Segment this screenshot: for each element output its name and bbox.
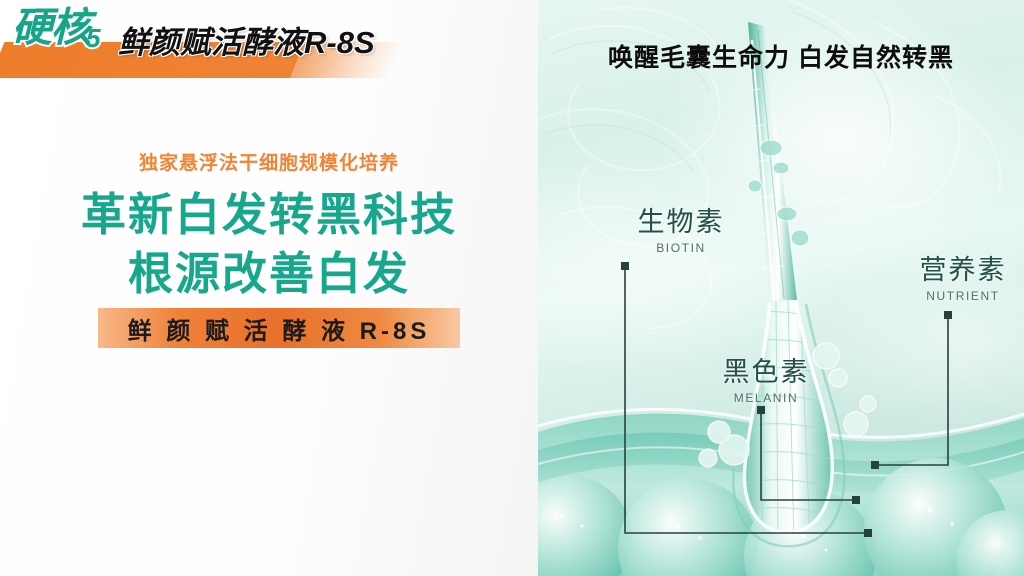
callout-nutrient-cn: 营养素 xyxy=(893,256,1024,286)
headline-line-2: 根源改善白发 xyxy=(0,244,538,303)
product-name-text: 鲜 颜 赋 活 酵 液 R-8S xyxy=(128,311,431,346)
callout-nutrient-en: NUTRIENT xyxy=(893,289,1024,303)
callout-melanin-cn: 黑色素 xyxy=(696,358,836,388)
left-subtitle: 独家悬浮法干细胞规模化培养 xyxy=(0,148,538,175)
callout-biotin-en: BIOTIN xyxy=(611,241,751,255)
callout-melanin-en: MELANIN xyxy=(696,391,836,405)
headline-line-1: 革新白发转黑科技 xyxy=(81,189,457,240)
brand-logo: 硬核5 xyxy=(12,8,99,51)
left-headline: 革新白发转黑科技 根源改善白发 xyxy=(0,185,538,304)
callout-nutrient: 营养素 NUTRIENT xyxy=(893,256,1024,303)
left-panel: 硬核5 硬核5 鲜颜赋活酵液R-8S 独家悬浮法干细胞规模化培养 革新白发转黑科… xyxy=(0,0,538,576)
callout-biotin-cn: 生物素 xyxy=(611,208,751,238)
callout-melanin: 黑色素 MELANIN xyxy=(696,358,836,405)
product-name-bar: 鲜 颜 赋 活 酵 液 R-8S xyxy=(98,308,460,348)
right-panel-title: 唤醒毛囊生命力 白发自然转黑 xyxy=(538,38,1024,74)
ad-poster: 硬核5 硬核5 鲜颜赋活酵液R-8S 独家悬浮法干细胞规模化培养 革新白发转黑科… xyxy=(0,0,1024,576)
banner-product-title: 鲜颜赋活酵液R-8S xyxy=(118,24,375,61)
right-panel: 唤醒毛囊生命力 白发自然转黑 生物素 BIOTIN 营养素 NUTRIENT 黑… xyxy=(538,0,1024,576)
callout-biotin: 生物素 BIOTIN xyxy=(611,208,751,255)
logo-banner: 硬核5 硬核5 鲜颜赋活酵液R-8S xyxy=(0,0,520,100)
